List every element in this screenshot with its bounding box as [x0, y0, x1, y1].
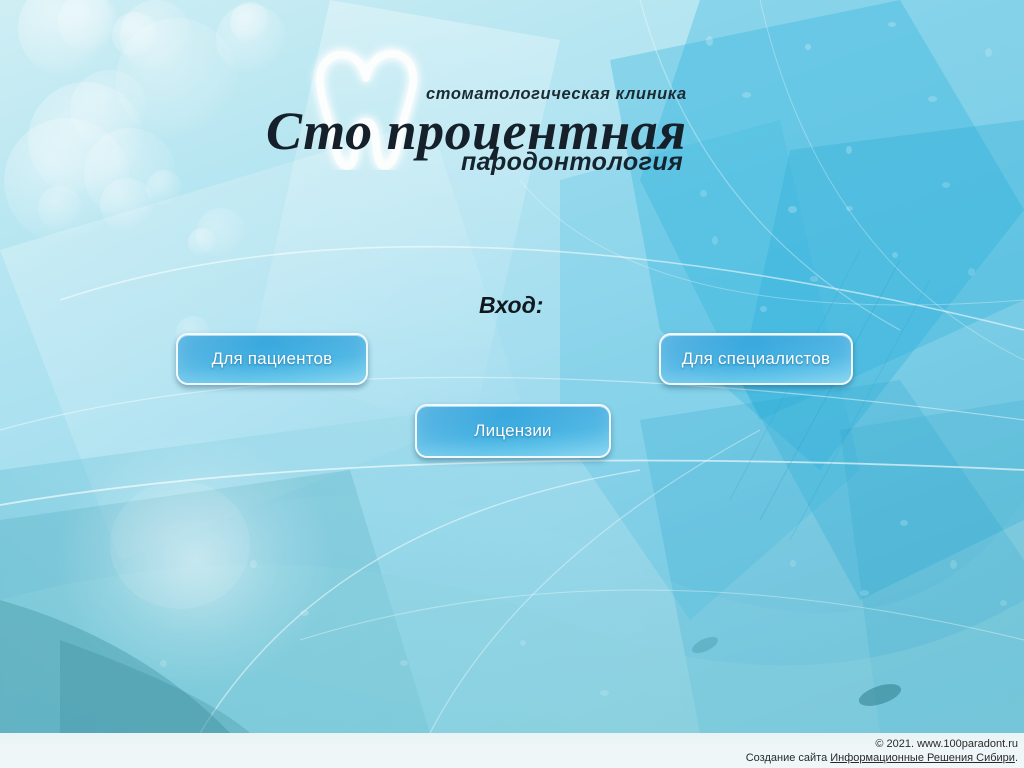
page-footer: © 2021. www.100paradont.ru Создание сайт…	[0, 733, 1024, 768]
button-for-patients[interactable]: Для пациентов	[176, 333, 368, 385]
clinic-logo: стоматологическая клиника Сто процентная…	[258, 38, 718, 183]
button-for-patients-label: Для пациентов	[212, 349, 333, 369]
footer-copyright: © 2021. www.100paradont.ru	[0, 737, 1018, 751]
button-licenses-label: Лицензии	[474, 421, 551, 441]
logo-subtitle-bottom: пародонтология	[461, 148, 683, 177]
button-for-specialists[interactable]: Для специалистов	[659, 333, 853, 385]
footer-credit: Создание сайта Информационные Решения Си…	[0, 751, 1018, 765]
footer-credit-suffix: .	[1015, 752, 1018, 764]
button-for-specialists-label: Для специалистов	[682, 349, 830, 369]
footer-credit-link[interactable]: Информационные Решения Сибири	[830, 752, 1015, 764]
button-licenses[interactable]: Лицензии	[415, 404, 611, 458]
footer-credit-prefix: Создание сайта	[746, 752, 831, 764]
entry-label: Вход:	[479, 292, 543, 319]
page-root: стоматологическая клиника Сто процентная…	[0, 0, 1024, 768]
